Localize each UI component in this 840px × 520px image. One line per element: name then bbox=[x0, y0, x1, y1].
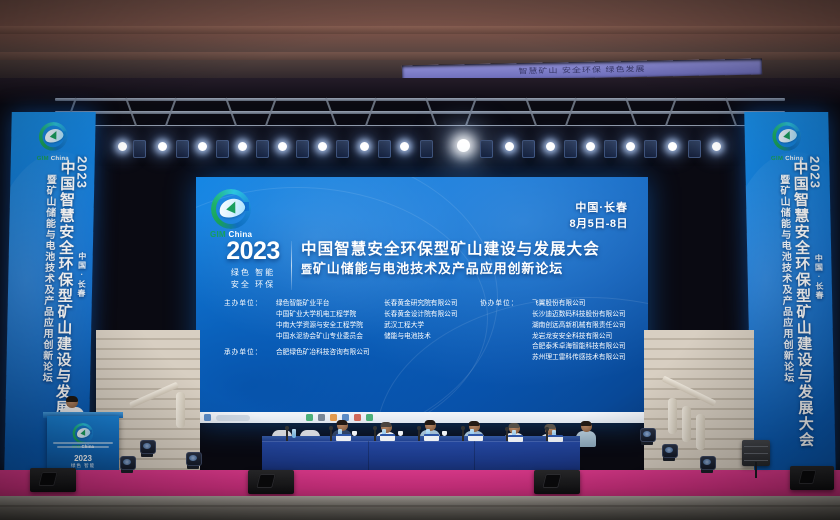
stage-monitor-speaker bbox=[534, 470, 580, 494]
event-date: 8月5日-8日 bbox=[569, 217, 628, 233]
stage-monitor-speaker bbox=[790, 466, 834, 490]
conference-stage-photo: 智慧矿山 安全环保 绿色发展 bbox=[0, 0, 840, 520]
gim-logo-left: 中国智慧安全环保型矿山建设与发展大会 GIM China bbox=[33, 122, 74, 162]
side-banner-right-year: 2023 bbox=[808, 156, 822, 189]
search-icon[interactable] bbox=[216, 415, 250, 421]
app-icon[interactable] bbox=[366, 414, 373, 421]
stage-monitor-speaker bbox=[30, 468, 76, 492]
organizers-left-column: 主办单位： 绿色智能矿业平台 长春黄金研究院有限公司 中国矿业大学机电工程学院 … bbox=[224, 299, 474, 364]
folder-icon[interactable] bbox=[306, 414, 313, 421]
stage-monitor-speaker bbox=[248, 470, 294, 494]
nameplate bbox=[548, 435, 563, 442]
moving-head-light bbox=[140, 440, 154, 457]
host-org: 长春黄金研究院有限公司 bbox=[384, 299, 474, 310]
host-label: 主办单位： bbox=[224, 299, 276, 310]
water-bottle bbox=[292, 429, 296, 438]
stage-light-highlight bbox=[457, 139, 470, 152]
event-title-secondary: 暨矿山储能与电池技术及产品应用创新论坛 bbox=[301, 261, 630, 278]
moving-head-light bbox=[662, 444, 676, 461]
podium-year: 2023 bbox=[47, 454, 119, 463]
ceiling-beam bbox=[0, 26, 840, 34]
coorganizer-org: 龙岩龙安安全科技有限公司 bbox=[480, 332, 632, 343]
nameplate bbox=[380, 434, 395, 441]
event-slogan-line1: 绿色 智能 bbox=[222, 267, 284, 279]
main-led-screen: GIM China 中国·长春 8月5日-8日 2023 绿色 智能 安全 环保… bbox=[196, 177, 648, 423]
cup bbox=[398, 431, 403, 436]
coorganizer-org: 飞翼股份有限公司 bbox=[532, 299, 586, 310]
moving-head-light bbox=[120, 456, 134, 473]
organizers-block: 主办单位： 绿色智能矿业平台 长春黄金研究院有限公司 中国矿业大学机电工程学院 … bbox=[224, 299, 632, 364]
nameplate bbox=[468, 434, 483, 441]
event-title-primary: 中国智慧安全环保型矿山建设与发展大会 bbox=[301, 240, 630, 259]
coorganizer-org: 湖南创远高新机械有限责任公司 bbox=[480, 321, 632, 332]
event-slogan-line2: 安全 环保 bbox=[222, 279, 284, 291]
undertaker-org: 合肥绿色矿冶科技咨询有限公司 bbox=[276, 348, 370, 359]
microphone bbox=[330, 428, 332, 441]
organizers-right-column: 协办单位： 飞翼股份有限公司 长沙迪迈数码科技股份有限公司 湖南创远高新机械有限… bbox=[474, 299, 632, 364]
host-org: 中国水泥协会矿山专业委员会 bbox=[276, 332, 384, 343]
side-banner-right-location: 中国·长春 bbox=[814, 254, 823, 300]
coorganizer-org: 合肥泰禾卓海智能科技有限公司 bbox=[480, 342, 632, 353]
microphone bbox=[286, 428, 288, 441]
coorganizer-label: 协办单位： bbox=[480, 299, 532, 310]
podium-title-lines bbox=[53, 442, 113, 450]
gim-logo-right: GIM China bbox=[766, 122, 807, 162]
title-amp: 暨 bbox=[301, 264, 313, 276]
host-org: 中南大学资源与安全工程学院 bbox=[276, 321, 384, 332]
host-org: 中国矿业大学机电工程学院 bbox=[276, 310, 384, 321]
nameplate bbox=[508, 435, 523, 442]
baluster bbox=[696, 414, 705, 450]
event-title-block: 2023 绿色 智能 安全 环保 中国智慧安全环保型矿山建设与发展大会 暨矿山储… bbox=[222, 239, 630, 290]
baluster bbox=[176, 392, 185, 428]
cup bbox=[442, 431, 447, 436]
host-org: 长春黄金设计院有限公司 bbox=[384, 310, 474, 321]
stage-steps-right bbox=[644, 330, 754, 480]
windows-icon[interactable] bbox=[204, 414, 211, 421]
event-city: 中国·长春 bbox=[569, 201, 628, 217]
microphone bbox=[462, 428, 464, 441]
undertaker-label: 承办单位： bbox=[224, 348, 276, 359]
nameplate bbox=[336, 434, 351, 441]
stage-edge-line bbox=[0, 505, 840, 507]
coorganizer-org: 长沙迪迈数码科技股份有限公司 bbox=[480, 310, 632, 321]
nameplate bbox=[424, 434, 439, 441]
baluster bbox=[682, 406, 691, 442]
coorganizer-org: 苏州理工雷科传感技术有限公司 bbox=[480, 353, 632, 364]
title-divider bbox=[291, 241, 292, 290]
side-banner-left-year: 2023 bbox=[75, 156, 89, 189]
mail-icon[interactable] bbox=[318, 414, 325, 421]
event-title-secondary-text: 矿山储能与电池技术及产品应用创新论坛 bbox=[313, 261, 563, 276]
host-org: 武汉工程大学 bbox=[384, 321, 474, 332]
logo-gim-text: GIM bbox=[210, 230, 226, 239]
host-org: 储能与电池技术 bbox=[384, 332, 474, 343]
event-location-block: 中国·长春 8月5日-8日 bbox=[569, 201, 628, 233]
moving-head-light bbox=[186, 452, 200, 469]
host-org: 绿色智能矿业平台 bbox=[276, 299, 384, 310]
stage-front-edge bbox=[0, 496, 840, 520]
side-banner-right: GIM China 2023 中国·长春 中国智慧安全环保型矿山建设与发展大会 … bbox=[744, 112, 836, 472]
microphone bbox=[374, 428, 376, 441]
moving-head-light bbox=[640, 428, 654, 445]
microphone bbox=[418, 428, 420, 441]
side-banner-left-location: 中国·长春 bbox=[77, 252, 86, 298]
baluster bbox=[668, 398, 677, 434]
event-year: 2023 bbox=[222, 239, 284, 264]
moving-head-light bbox=[700, 456, 714, 473]
cup bbox=[352, 431, 357, 436]
media-icon[interactable] bbox=[354, 414, 361, 421]
gim-china-logo: GIM China bbox=[210, 189, 252, 239]
